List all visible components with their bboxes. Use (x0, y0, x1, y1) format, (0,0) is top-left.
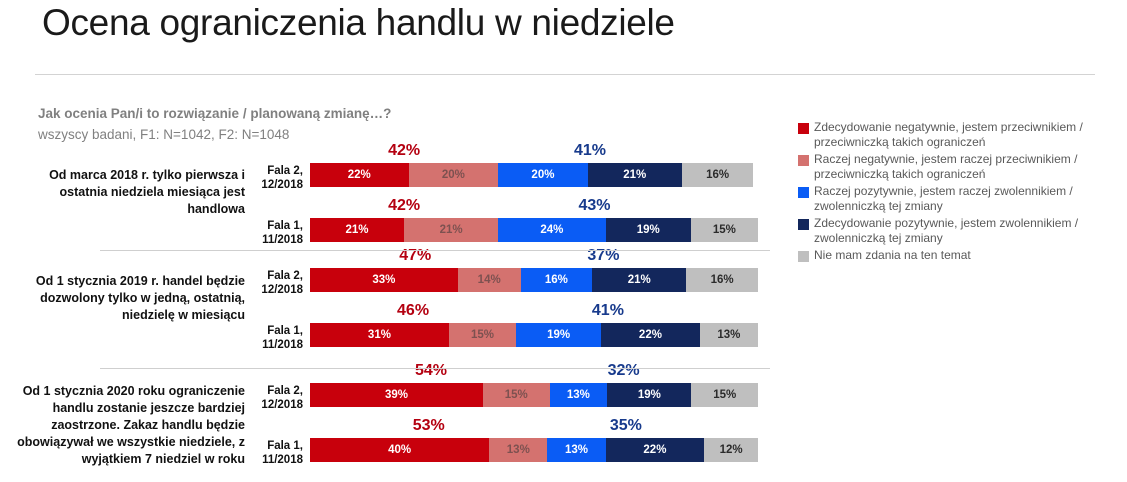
bar-segment-value: 16% (711, 274, 734, 286)
total-positive-label: 32% (552, 362, 695, 380)
legend-swatch-no-opinion (798, 251, 809, 262)
wave-label-line2: 12/2018 (241, 283, 303, 297)
total-negative-label: 46% (310, 302, 516, 320)
wave-label-line2: 12/2018 (241, 178, 303, 192)
legend-item-label: Raczej negatywnie, jestem raczej przeciw… (814, 152, 1123, 182)
legend-item-label: Zdecydowanie pozytywnie, jestem zwolenni… (814, 216, 1123, 246)
bar-segment-value: 22% (643, 444, 666, 456)
stacked-bar-row[interactable]: 22%20%20%21%16% (310, 163, 758, 187)
total-positive-label: 41% (498, 142, 682, 160)
wave-label-line1: Fala 1, (241, 324, 303, 338)
wave-label-line2: 11/2018 (241, 233, 303, 247)
stacked-bar-chart: Od marca 2018 r. tylko pierwsza i ostatn… (0, 0, 785, 482)
stacked-bar-row[interactable]: 39%15%13%19%15% (310, 383, 758, 407)
wave-label: Fala 1,11/2018 (241, 439, 303, 467)
bar-segment[interactable]: 39% (310, 383, 483, 407)
bar-segment[interactable]: 15% (449, 323, 516, 347)
total-negative-label: 53% (310, 417, 547, 435)
bar-segment-value: 14% (478, 274, 501, 286)
legend-item-label: Raczej pozytywnie, jestem raczej zwolenn… (814, 184, 1123, 214)
wave-label-line2: 11/2018 (241, 453, 303, 467)
bar-segment-value: 21% (440, 224, 463, 236)
bar-segment-value: 20% (442, 169, 465, 181)
wave-label-line1: Fala 1, (241, 439, 303, 453)
stacked-bar-row[interactable]: 33%14%16%21%16% (310, 268, 758, 292)
bar-segment[interactable]: 15% (483, 383, 550, 407)
bar-segment[interactable]: 21% (592, 268, 686, 292)
legend-swatch-strongly-negative (798, 123, 809, 134)
wave-label: Fala 1,11/2018 (241, 324, 303, 352)
bar-segment-value: 20% (531, 169, 554, 181)
legend-swatch-rather-negative (798, 155, 809, 166)
bar-segment[interactable]: 22% (310, 163, 409, 187)
total-positive-label: 43% (498, 197, 691, 215)
legend-swatch-rather-positive (798, 187, 809, 198)
total-negative-label: 42% (310, 197, 498, 215)
bar-segment-value: 19% (638, 389, 661, 401)
total-negative-label: 42% (310, 142, 498, 160)
bar-segment-value: 12% (720, 444, 743, 456)
bar-segment[interactable]: 13% (550, 383, 608, 407)
bar-segment[interactable]: 16% (521, 268, 593, 292)
bar-segment[interactable]: 20% (498, 163, 588, 187)
bar-segment-value: 19% (547, 329, 570, 341)
bar-segment[interactable]: 21% (588, 163, 682, 187)
bar-segment-value: 31% (368, 329, 391, 341)
wave-label: Fala 2,12/2018 (241, 384, 303, 412)
bar-segment[interactable]: 14% (458, 268, 521, 292)
bar-segment-value: 16% (545, 274, 568, 286)
wave-label-line2: 11/2018 (241, 338, 303, 352)
bar-segment[interactable]: 21% (404, 218, 498, 242)
bar-segment[interactable]: 22% (601, 323, 700, 347)
wave-label-line2: 12/2018 (241, 398, 303, 412)
wave-label: Fala 2,12/2018 (241, 269, 303, 297)
wave-label: Fala 1,11/2018 (241, 219, 303, 247)
bar-segment-value: 13% (507, 444, 530, 456)
bar-segment-value: 39% (385, 389, 408, 401)
chart-legend: Zdecydowanie negatywnie, jestem przeciwn… (798, 120, 1123, 265)
bar-segment[interactable]: 15% (691, 218, 758, 242)
bar-segment-value: 21% (623, 169, 646, 181)
legend-item-label: Nie mam zdania na ten temat (814, 248, 971, 263)
bar-segment[interactable]: 13% (700, 323, 758, 347)
total-positive-label: 35% (547, 417, 704, 435)
bar-segment[interactable]: 24% (498, 218, 606, 242)
bar-segment[interactable]: 13% (489, 438, 547, 462)
bar-segment-value: 13% (567, 389, 590, 401)
group-separator (100, 368, 770, 369)
category-label: Od marca 2018 r. tylko pierwsza i ostatn… (5, 167, 245, 218)
bar-segment-value: 33% (372, 274, 395, 286)
stacked-bar-row[interactable]: 31%15%19%22%13% (310, 323, 758, 347)
bar-segment[interactable]: 13% (547, 438, 605, 462)
bar-segment-value: 15% (505, 389, 528, 401)
bar-segment-value: 21% (628, 274, 651, 286)
bar-segment[interactable]: 19% (607, 383, 691, 407)
bar-segment[interactable]: 21% (310, 218, 404, 242)
bar-segment[interactable]: 12% (704, 438, 758, 462)
bar-segment-value: 15% (713, 224, 736, 236)
stacked-bar-row[interactable]: 40%13%13%22%12% (310, 438, 758, 462)
slide-root: Ocena ograniczenia handlu w niedziele Ja… (0, 0, 1127, 482)
bar-segment-value: 15% (471, 329, 494, 341)
bar-segment[interactable]: 15% (691, 383, 758, 407)
legend-item[interactable]: Raczej negatywnie, jestem raczej przeciw… (798, 152, 1123, 182)
total-positive-label: 41% (516, 302, 700, 320)
bar-segment-value: 13% (717, 329, 740, 341)
category-label: Od 1 stycznia 2020 roku ograniczenie han… (5, 383, 245, 468)
legend-item-label: Zdecydowanie negatywnie, jestem przeciwn… (814, 120, 1123, 150)
bar-segment-value: 22% (639, 329, 662, 341)
bar-segment-value: 21% (346, 224, 369, 236)
bar-segment[interactable]: 33% (310, 268, 458, 292)
legend-item[interactable]: Zdecydowanie pozytywnie, jestem zwolenni… (798, 216, 1123, 246)
bar-segment-value: 24% (540, 224, 563, 236)
bar-segment[interactable]: 22% (606, 438, 705, 462)
wave-label-line1: Fala 2, (241, 269, 303, 283)
bar-segment[interactable]: 20% (409, 163, 499, 187)
category-label: Od 1 stycznia 2019 r. handel będzie dozw… (5, 273, 245, 324)
group-separator (100, 250, 770, 251)
legend-swatch-strongly-positive (798, 219, 809, 230)
bar-segment-value: 13% (565, 444, 588, 456)
bar-segment-value: 15% (713, 389, 736, 401)
legend-item[interactable]: Nie mam zdania na ten temat (798, 248, 1123, 263)
bar-segment[interactable]: 19% (516, 323, 601, 347)
legend-item[interactable]: Zdecydowanie negatywnie, jestem przeciwn… (798, 120, 1123, 150)
legend-item[interactable]: Raczej pozytywnie, jestem raczej zwolenn… (798, 184, 1123, 214)
bar-segment[interactable]: 40% (310, 438, 489, 462)
bar-segment-value: 22% (348, 169, 371, 181)
wave-label: Fala 2,12/2018 (241, 164, 303, 192)
bar-segment-value: 19% (637, 224, 660, 236)
bar-segment[interactable]: 19% (606, 218, 691, 242)
total-negative-label: 54% (310, 362, 552, 380)
bar-segment[interactable]: 16% (682, 163, 754, 187)
wave-label-line1: Fala 2, (241, 384, 303, 398)
bar-segment[interactable]: 16% (686, 268, 758, 292)
wave-label-line1: Fala 1, (241, 219, 303, 233)
bar-segment[interactable]: 31% (310, 323, 449, 347)
bar-segment-value: 40% (388, 444, 411, 456)
wave-label-line1: Fala 2, (241, 164, 303, 178)
stacked-bar-row[interactable]: 21%21%24%19%15% (310, 218, 758, 242)
bar-segment-value: 16% (706, 169, 729, 181)
